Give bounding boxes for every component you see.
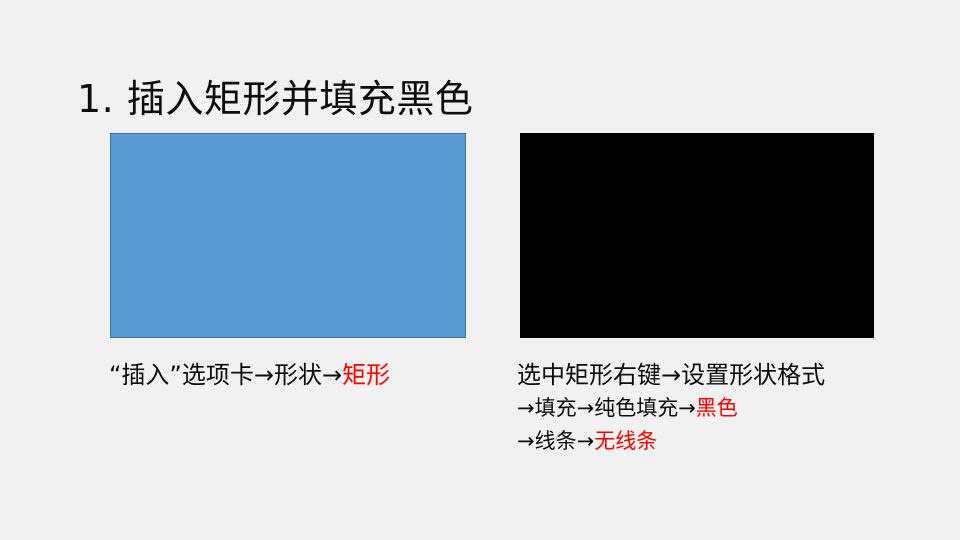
caption-right-line-2-text: →填充→纯色填充→ [517, 396, 696, 420]
blue-rectangle-shape[interactable] [110, 133, 466, 338]
caption-left-line-1-highlight: 矩形 [342, 361, 390, 389]
caption-left-line-1: “插入”选项卡→形状→矩形 [109, 358, 390, 392]
caption-right-line-3: →线条→无线条 [517, 425, 825, 458]
black-rectangle-shape[interactable] [520, 133, 874, 338]
caption-right-line-1-text: 选中矩形右键→设置形状格式 [517, 361, 825, 389]
caption-right-line-2-highlight: 黑色 [696, 396, 738, 420]
caption-right-line-3-text: →线条→ [517, 429, 594, 453]
caption-right-line-1: 选中矩形右键→设置形状格式 [517, 358, 825, 392]
caption-left-line-1-text: “插入”选项卡→形状→ [109, 361, 342, 389]
caption-right-line-2: →填充→纯色填充→黑色 [517, 392, 825, 425]
slide-canvas: 1. 插入矩形并填充黑色 “插入”选项卡→形状→矩形 选中矩形右键→设置形状格式… [0, 0, 960, 540]
caption-right-line-3-highlight: 无线条 [594, 429, 657, 453]
caption-right: 选中矩形右键→设置形状格式 →填充→纯色填充→黑色 →线条→无线条 [517, 358, 825, 458]
caption-left: “插入”选项卡→形状→矩形 [109, 358, 390, 392]
page-title: 1. 插入矩形并填充黑色 [77, 75, 473, 123]
